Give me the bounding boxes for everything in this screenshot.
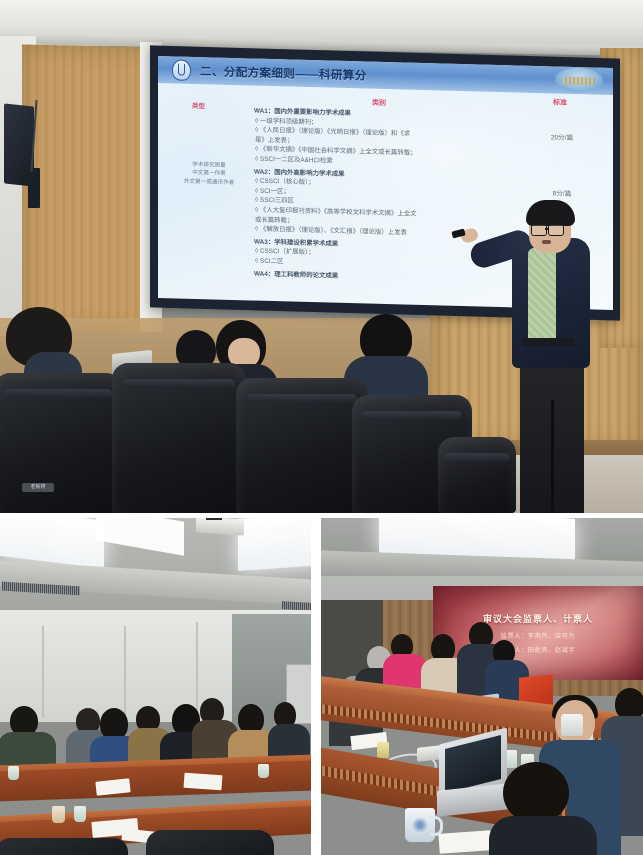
score-1: 8分/篇 [529, 187, 595, 199]
glasses-bridge-icon [545, 228, 548, 230]
score-0: 20分/篇 [529, 131, 595, 143]
mug-pattern [411, 818, 429, 832]
ceiling-light-panel [238, 518, 311, 571]
audience-panel [0, 518, 311, 855]
voting-panel: 审议大会监票人、计票人 监票人：李荆芹、应可为 计票人：田胜男、赵斌宇 [321, 518, 643, 855]
chair-badge: 老板椅 [22, 483, 54, 492]
attendee-head [503, 762, 569, 824]
column-header-type: 类型 [192, 100, 205, 110]
panel-gutter-vertical [311, 513, 321, 855]
presenter-leg-split [551, 400, 554, 513]
presentation-panel: 二、分配方案细则——科研算分 类型 类别 标准 学术研究质量 中文第一作者 外文… [0, 0, 643, 513]
cup-icon [74, 806, 86, 822]
photo-collage: 二、分配方案细则——科研算分 类型 类别 标准 学术研究质量 中文第一作者 外文… [0, 0, 643, 855]
projector-mount [206, 518, 222, 520]
office-chair [0, 838, 128, 855]
panel-gutter-horizontal [0, 513, 643, 518]
presenter-belt [522, 338, 574, 346]
campus-photo-icon [555, 67, 603, 92]
office-chair [438, 437, 516, 513]
attendee-body [489, 816, 597, 855]
presenter-mouth [542, 240, 551, 244]
cup-icon [52, 806, 65, 823]
office-chair [236, 378, 368, 513]
wall-seam [42, 626, 44, 718]
presenter-shirt [528, 248, 556, 346]
office-chair [112, 363, 246, 513]
glasses-left-lens-icon [531, 224, 547, 236]
slide-left-labels: 学术研究质量 中文第一作者 外文第一或通讯作者 [176, 161, 242, 188]
office-chair: 老板椅 [0, 373, 122, 513]
wall-seam [196, 622, 198, 718]
cup-icon [377, 742, 389, 758]
speaker-mount [28, 168, 40, 208]
paper-sheet [184, 773, 223, 791]
cup-icon [561, 714, 583, 736]
left-label-2: 外文第一或通讯作者 [176, 177, 242, 187]
column-header-standard: 标准 [553, 97, 567, 107]
wall-seam [124, 626, 126, 718]
red-slide-title: 审议大会监票人、计票人 [433, 612, 643, 625]
slide-body-text: WA1：国内外重要影响力学术成果 ◊ 一级学科顶级期刊； ◊ 《人民日报》（理论… [254, 107, 484, 285]
paper-sheet [438, 830, 491, 854]
slide-title: 二、分配方案细则——科研算分 [200, 63, 367, 83]
red-slide-line-1: 监票人：李荆芹、应可为 [433, 631, 643, 640]
university-crest-icon [172, 59, 191, 80]
column-header-category: 类别 [372, 98, 386, 108]
office-chair [146, 830, 274, 855]
presenter-hair [526, 200, 575, 226]
cup-icon [258, 764, 269, 778]
glasses-right-lens-icon [548, 224, 564, 236]
cup-icon [8, 766, 19, 780]
